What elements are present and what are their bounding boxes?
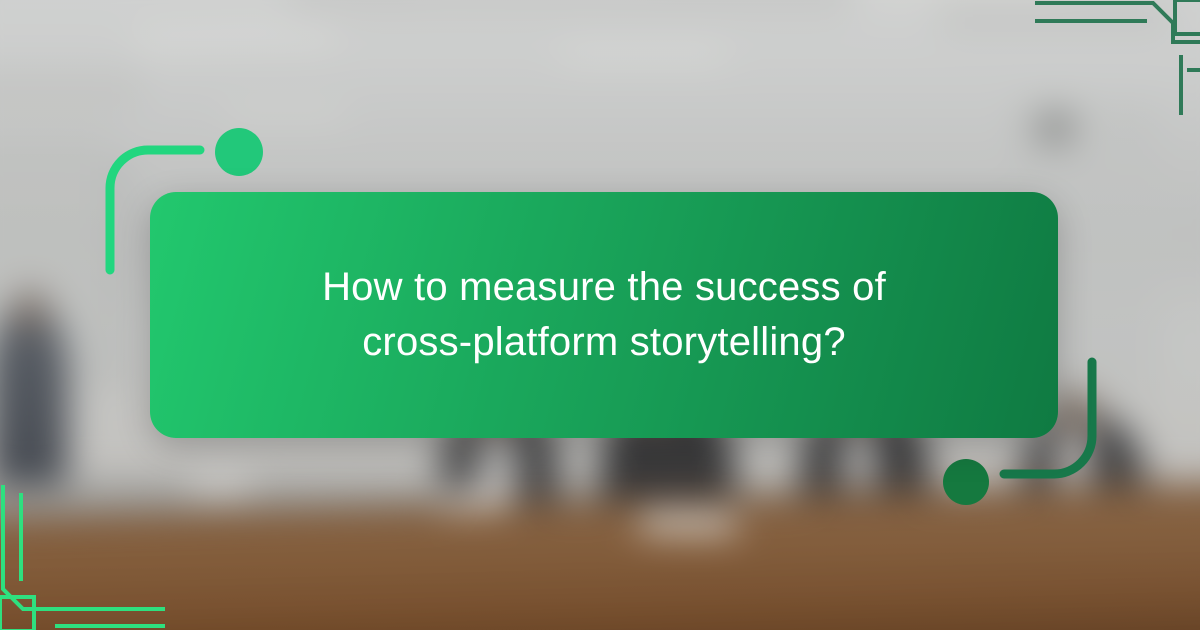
accent-dot-bottom-icon: [943, 459, 989, 505]
accent-dot-top-icon: [215, 128, 263, 176]
circuit-corner-top-right-icon: [1035, 0, 1200, 115]
circuit-corner-bottom-left-icon: [0, 485, 165, 630]
question-title: How to measure the success of cross-plat…: [284, 260, 924, 370]
share-card-canvas: How to measure the success of cross-plat…: [0, 0, 1200, 630]
question-card: How to measure the success of cross-plat…: [150, 192, 1058, 438]
